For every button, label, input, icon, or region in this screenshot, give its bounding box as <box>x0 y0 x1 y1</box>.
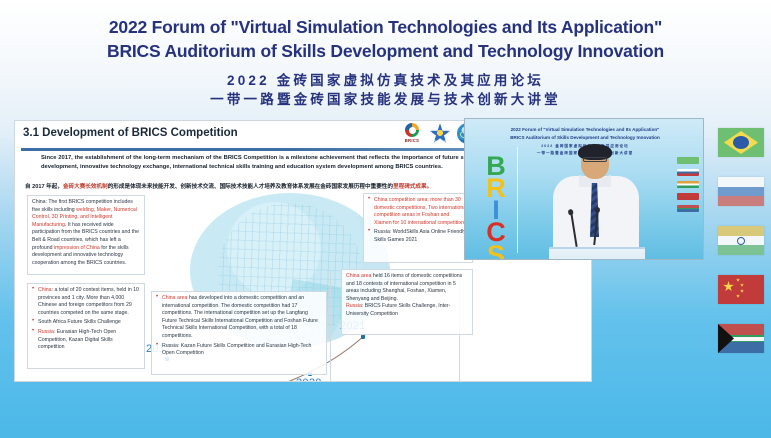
callout-2020-lead-1: China area <box>346 273 371 279</box>
video-screen-title-en1: 2022 Forum of "Virtual Simulation Techno… <box>465 127 704 132</box>
video-vertical-rule <box>517 147 518 253</box>
china-flag-icon <box>677 193 699 200</box>
flag-strip <box>718 128 766 373</box>
speaker-video-panel: 2022 Forum of "Virtual Simulation Techno… <box>464 118 704 260</box>
brics-letter-s: S <box>487 244 505 261</box>
list-item: Russia: Kazan Future Skills Competition … <box>156 343 322 358</box>
brics-vertical-logo: B R I C S <box>481 155 511 260</box>
column-divider-1 <box>330 271 331 382</box>
list-item: China competition area: more than 30 dom… <box>368 197 468 227</box>
forum-title-cn-line1: 2022 金砖国家虚拟仿真技术及其应用论坛 <box>0 69 771 89</box>
forum-title-cn-line2: 一带一路暨金砖国家技能发展与技术创新大讲堂 <box>0 88 771 108</box>
south-africa-flag <box>718 324 764 353</box>
south-africa-flag-icon <box>677 205 699 212</box>
forum-title-en-line1: 2022 Forum of "Virtual Simulation Techno… <box>0 17 771 38</box>
callout-2021-text-1: Russia: WorldSkills Asia Online Friendly… <box>374 229 466 243</box>
callout-2018: China: a total of 20 contest items, held… <box>27 283 145 369</box>
india-flag-icon <box>677 181 699 188</box>
slide-paragraph-cn: 自 2017 年起，金砖大赛长效机制的形成是体现未来技能开发、创新技术交流、国际… <box>25 182 475 190</box>
russia-flag <box>718 177 764 206</box>
callout-2017-r2: impression of China <box>54 245 100 251</box>
callout-2018-text-0: : a total of 20 contest items, held in 1… <box>38 287 139 316</box>
year-label-2020: 2020 <box>296 377 322 382</box>
video-stage-background: 2022 Forum of "Virtual Simulation Techno… <box>465 119 704 260</box>
callout-2019-text-0: has developed into a domestic competitio… <box>162 295 318 339</box>
china-flag <box>718 275 764 304</box>
callout-2019: China area has developed into a domestic… <box>151 291 327 375</box>
timeline-dot-2021 <box>361 335 365 339</box>
list-item: Russia: WorldSkills Asia Online Friendly… <box>368 229 468 244</box>
callout-2021-lead-0: China competition area <box>374 197 427 203</box>
callout-2018-lead-0: China <box>38 287 52 293</box>
speaker-glasses <box>583 157 607 162</box>
callout-2017: China: The first BRICS competition inclu… <box>27 195 145 275</box>
cn-prefix: 自 2017 年起， <box>25 184 63 190</box>
cn-red-1: 金砖大赛长效机制 <box>63 184 108 190</box>
list-item: China: a total of 20 contest items, held… <box>32 287 140 317</box>
russia-flag-icon <box>677 169 699 176</box>
callout-2018-lead-2: Russia <box>38 329 54 335</box>
callout-2019-lead-0: China area <box>162 295 187 301</box>
podium <box>549 247 645 260</box>
callout-2020: China area held 16 items of domestic com… <box>341 269 473 335</box>
forum-title-en-line2: BRICS Auditorium of Skills Development a… <box>0 41 771 62</box>
star-logo <box>429 123 451 147</box>
callout-2020-line-1: China area held 16 items of domestic com… <box>346 273 468 303</box>
stage-backdrop-header: 2022 Forum of "Virtual Simulation Techno… <box>0 0 771 108</box>
brazil-flag <box>718 128 764 157</box>
callout-2020-lead-2: Russia <box>346 303 362 309</box>
callout-2019-text-1: Russia: Kazan Future Skills Competition … <box>162 343 311 357</box>
list-item: Russia: Eurasian High-Tech Open Competit… <box>32 329 140 352</box>
cn-red-2: 里程碑式成果。 <box>393 184 432 190</box>
cn-mid: 的形成是体现未来技能开发、创新技术交流、国际技术技能人才培养及教育体系发展在金砖… <box>108 184 393 190</box>
slide-title: 3.1 Development of BRICS Competition <box>23 127 238 139</box>
callout-2021: China competition area: more than 30 dom… <box>363 193 473 263</box>
video-screen-title-en2: BRICS Auditorium of Skills Development a… <box>465 135 704 140</box>
callout-2020-line-2: Russia: BRICS Future Skills Challenge, I… <box>346 303 468 318</box>
callout-2020-text-2: : BRICS Future Skills Challenge, Inter-U… <box>346 303 450 317</box>
slide-paragraph-en-text: Since 2017, the establishment of the lon… <box>25 154 475 172</box>
slide-paragraph-en: Since 2017, the establishment of the lon… <box>25 154 475 172</box>
callout-2018-text-1: South Africa Future Skills Challenge <box>38 319 121 325</box>
brazil-flag-icon <box>677 157 699 164</box>
list-item: China area has developed into a domestic… <box>156 295 322 341</box>
video-side-flags <box>677 157 699 217</box>
brics-logo: BRICS <box>401 123 423 147</box>
india-flag <box>718 226 764 255</box>
list-item: South Africa Future Skills Challenge <box>32 319 140 327</box>
speaker-figure <box>543 145 649 260</box>
